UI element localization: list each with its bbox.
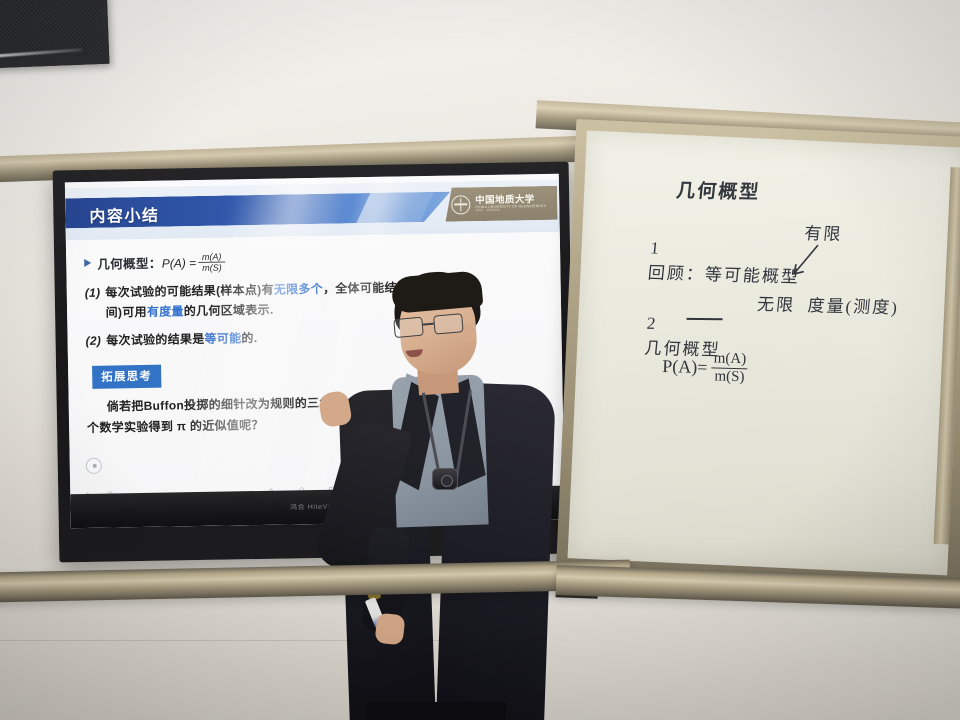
floating-pen-toggle[interactable]: [86, 458, 102, 474]
formula-lhs: P(A) =: [162, 256, 197, 271]
whiteboard-hinge: [934, 167, 960, 544]
item-1-line2-b: 的几何区域表示.: [184, 303, 274, 319]
logo-text-group: 中国地质大学 CHINA UNIVERSITY OF GEOSCIENCES 1…: [475, 195, 546, 213]
item-2-line1-a: 每次试验的结果是: [106, 332, 205, 348]
whiteboard-formula-denominator: m(S): [711, 367, 747, 386]
definition-bullet: 几何概型：P(A) = m(A) m(S): [84, 246, 540, 275]
bullet-triangle-icon: [84, 259, 91, 267]
presenter: [322, 272, 554, 720]
presenter-trousers: [366, 702, 506, 720]
whiteboard-line-1-number: 1: [649, 238, 661, 257]
whiteboard-formula-fraction: m(A) m(S): [710, 350, 749, 386]
presenter-raised-hand: [317, 390, 352, 429]
item-2-line1-b: 的.: [241, 331, 257, 345]
whiteboard-line-2-number: 2: [646, 314, 658, 333]
glasses-lens-right: [433, 313, 464, 334]
glasses-bridge: [423, 323, 434, 326]
slide-header: 内容小结 中国地质大学 CHINA UNIVERSITY OF GEOSCIEN…: [65, 180, 560, 241]
classroom-scene: 内容小结 中国地质大学 CHINA UNIVERSITY OF GEOSCIEN…: [0, 0, 960, 720]
whiteboard[interactable]: 几何概型 1 回顾：等可能概型 有限 2 几何概型 无限 度量(测度) P(A)…: [556, 119, 960, 589]
whiteboard-formula-lhs: P(A)=: [662, 356, 708, 378]
item-1-tag: (1): [85, 284, 101, 324]
definition-lead: 几何概型：: [97, 257, 162, 272]
presenter-lower-hand: [375, 613, 406, 646]
item-2-line1-highlight: 等可能: [204, 331, 241, 346]
item-1-line1-highlight: 无限多个: [274, 282, 323, 297]
formula-numerator: m(A): [198, 252, 226, 262]
formula-fraction: m(A) m(S): [198, 252, 226, 273]
ceiling-speaker-panel: [0, 0, 109, 68]
glasses-lens-left: [393, 317, 424, 338]
item-1-line2-a: 间)可用: [106, 305, 147, 320]
whiteboard-title: 几何概型: [675, 176, 762, 205]
item-1-line2-highlight: 有度量: [147, 304, 184, 319]
lanyard-microphone: [432, 468, 458, 490]
formula-denominator: m(S): [198, 262, 226, 273]
university-logo: 中国地质大学 CHINA UNIVERSITY OF GEOSCIENCES 1…: [445, 186, 558, 222]
whiteboard-surface[interactable]: 几何概型 1 回顾：等可能概型 有限 2 几何概型 无限 度量(测度) P(A)…: [568, 131, 960, 576]
university-seal-icon: [451, 195, 470, 214]
item-1-line1-a: 每次试验的可能结果(样本点)有: [105, 283, 274, 300]
whiteboard-formula-numerator: m(A): [710, 350, 749, 368]
whiteboard-line-1-text: 回顾：等可能概型: [647, 263, 801, 286]
paragraph-line-2: 个数学实验得到 π 的近似值呢？: [87, 418, 264, 435]
page-title: 内容小结: [89, 202, 159, 227]
whiteboard-formula: P(A)= m(A) m(S): [662, 349, 750, 386]
whiteboard-line-2-note: 无限 度量(测度): [756, 290, 900, 318]
status-badge: 拓展思考: [92, 364, 161, 388]
whiteboard-arrow-icon: [786, 240, 822, 282]
item-2-tag: (2): [85, 332, 101, 352]
logo-year: 1952 · WUHAN: [475, 208, 546, 212]
